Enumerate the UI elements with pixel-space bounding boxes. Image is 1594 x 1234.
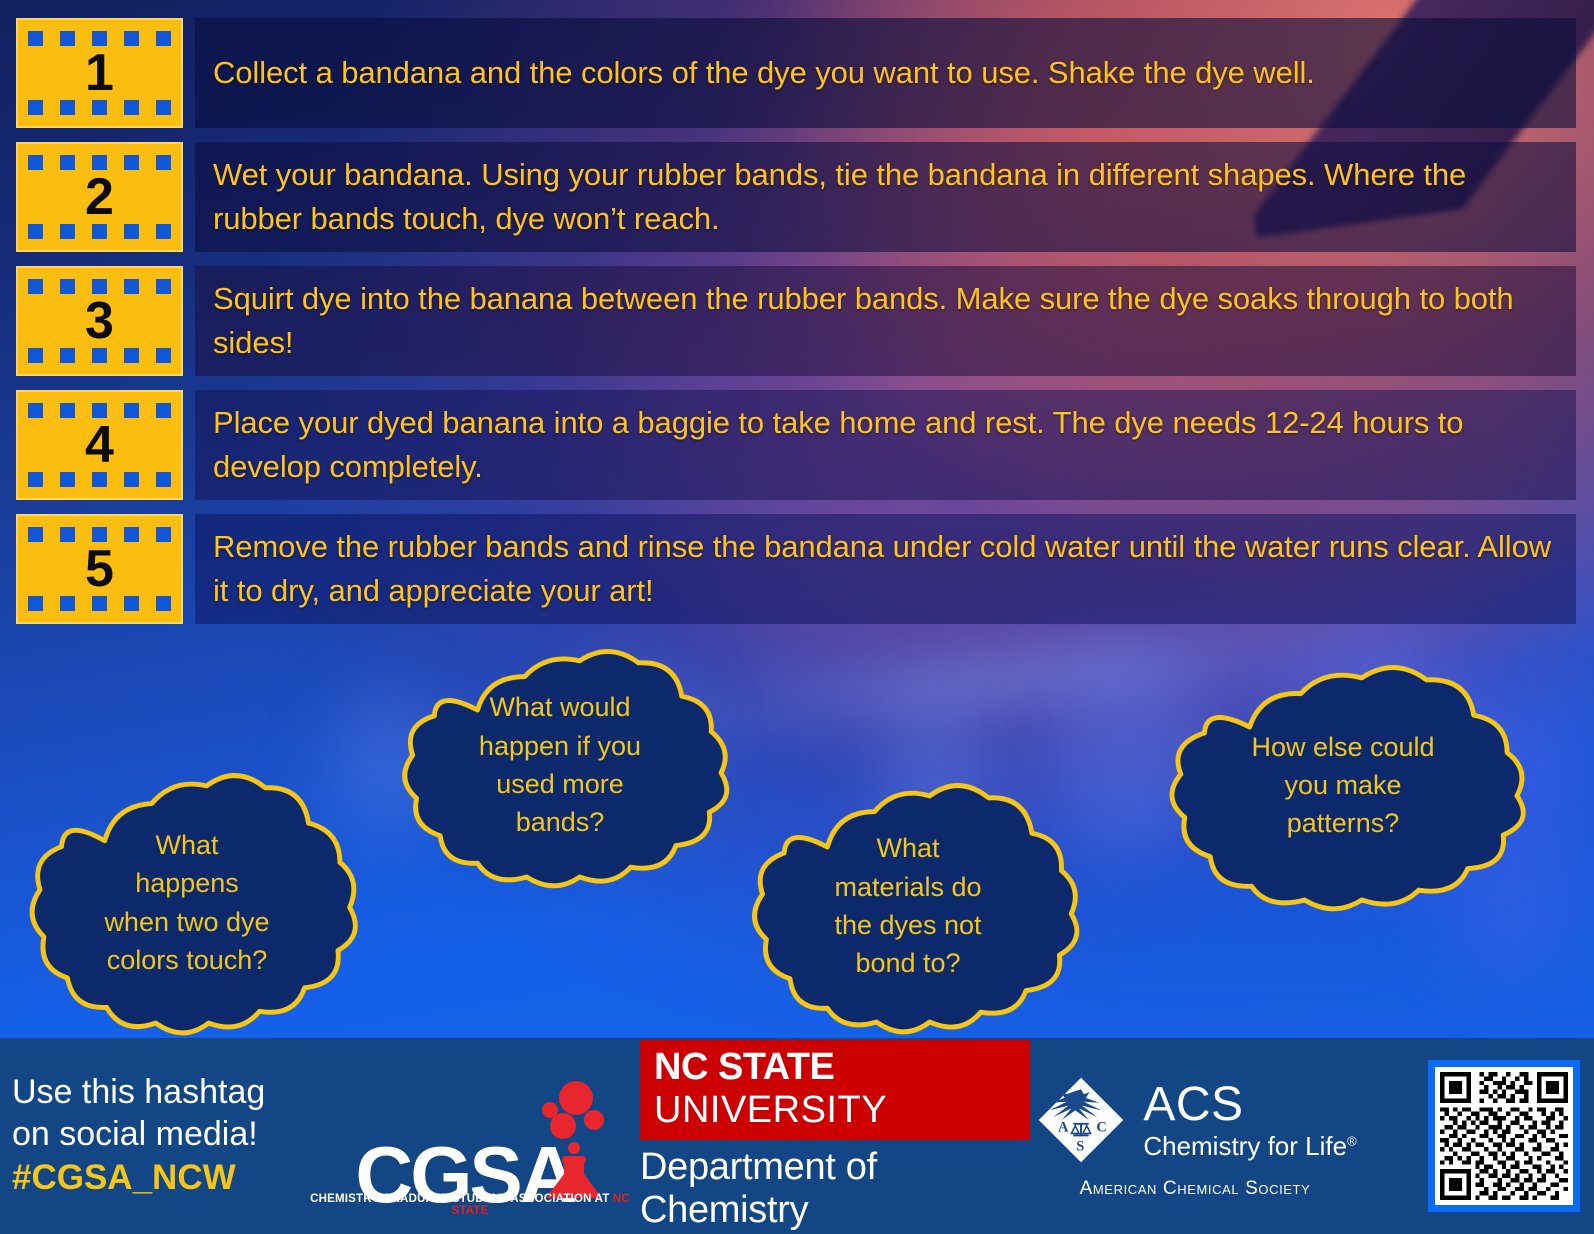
ncsu-red-bar: NC STATE UNIVERSITY	[640, 1040, 1030, 1140]
hashtag-value: #CGSA_NCW	[12, 1157, 300, 1200]
step-number-badge-3: 3	[16, 266, 183, 376]
step-number-label: 5	[85, 543, 114, 595]
step-number-label: 3	[85, 295, 114, 347]
question-cloud-4: How else could you make patterns?	[1146, 672, 1540, 898]
step-row: 2 Wet your bandana. Using your rubber ba…	[16, 142, 1576, 252]
svg-text:C: C	[1097, 1120, 1107, 1136]
step-number-label: 2	[85, 171, 114, 223]
film-perforations-top	[28, 403, 171, 418]
cgsa-tagline-main: CHEMISTRY GRADUATE STUDENT ASSOCIATION A…	[310, 1193, 613, 1205]
film-perforations-bottom	[28, 224, 171, 239]
question-cloud-1: What happens when two dye colors touch?	[8, 780, 366, 1025]
film-perforations-top	[28, 155, 171, 170]
qr-code[interactable]	[1428, 1060, 1580, 1212]
question-cloud-text: What materials do the dyes not bond to?	[732, 790, 1084, 1022]
question-cloud-text: How else could you make patterns?	[1146, 672, 1540, 898]
step-instruction-text: Squirt dye into the banana between the r…	[195, 266, 1576, 376]
hashtag-line-2: on social media!	[12, 1114, 300, 1155]
film-perforations-bottom	[28, 472, 171, 487]
question-cloud-2: What would happen if you used more bands…	[382, 655, 738, 875]
step-number-label: 1	[85, 47, 114, 99]
question-cloud-text: What happens when two dye colors touch?	[8, 780, 366, 1025]
step-row: 1 Collect a bandana and the colors of th…	[16, 18, 1576, 128]
step-instruction-text: Collect a bandana and the colors of the …	[195, 18, 1576, 128]
poster-root: 1 Collect a bandana and the colors of th…	[0, 0, 1594, 1234]
footer-bar: Use this hashtag on social media! #CGSA_…	[0, 1038, 1594, 1234]
ncsu-logo: NC STATE UNIVERSITY Department of Chemis…	[630, 1040, 1030, 1232]
cgsa-logo: CGSA CHEMISTRY GRADUATE STUDENT ASSOCIAT…	[300, 1061, 630, 1211]
question-cloud-text: What would happen if you used more bands…	[382, 655, 738, 875]
acs-tagline: Chemistry for Life®	[1143, 1133, 1356, 1159]
question-cloud-3: What materials do the dyes not bond to?	[732, 790, 1084, 1022]
ncsu-department-text: Department of Chemistry	[640, 1146, 1030, 1232]
film-perforations-bottom	[28, 348, 171, 363]
ncsu-bold-text: NC STATE	[654, 1046, 834, 1088]
film-perforations-top	[28, 279, 171, 294]
step-number-badge-4: 4	[16, 390, 183, 500]
steps-list: 1 Collect a bandana and the colors of th…	[16, 18, 1576, 638]
cgsa-tagline: CHEMISTRY GRADUATE STUDENT ASSOCIATION A…	[310, 1193, 630, 1217]
acs-wordmark: ACS Chemistry for Life®	[1143, 1081, 1356, 1159]
acs-name: ACS	[1143, 1081, 1356, 1129]
step-row: 5 Remove the rubber bands and rinse the …	[16, 514, 1576, 624]
step-row: 3 Squirt dye into the banana between the…	[16, 266, 1576, 376]
svg-text:A: A	[1058, 1120, 1069, 1136]
hashtag-line-1: Use this hashtag	[12, 1072, 300, 1113]
acs-diamond-eagle-icon: A C S	[1033, 1072, 1129, 1168]
ncsu-light-text: UNIVERSITY	[654, 1089, 887, 1131]
acs-tagline-text: Chemistry for Life	[1143, 1131, 1347, 1161]
film-perforations-top	[28, 31, 171, 46]
acs-registered-mark: ®	[1347, 1133, 1357, 1148]
film-perforations-top	[28, 527, 171, 542]
flask-icon	[532, 1076, 612, 1205]
step-number-badge-5: 5	[16, 514, 183, 624]
step-number-label: 4	[85, 419, 114, 471]
step-instruction-text: Place your dyed banana into a baggie to …	[195, 390, 1576, 500]
acs-full-name: American Chemical Society	[1080, 1178, 1311, 1200]
hashtag-block: Use this hashtag on social media! #CGSA_…	[0, 1072, 300, 1200]
acs-logo-top: A C S ACS Chemistry for Life®	[1033, 1072, 1356, 1168]
step-number-badge-2: 2	[16, 142, 183, 252]
step-instruction-text: Remove the rubber bands and rinse the ba…	[195, 514, 1576, 624]
step-number-badge-1: 1	[16, 18, 183, 128]
step-instruction-text: Wet your bandana. Using your rubber band…	[195, 142, 1576, 252]
step-row: 4 Place your dyed banana into a baggie t…	[16, 390, 1576, 500]
svg-text:S: S	[1077, 1139, 1085, 1155]
acs-logo: A C S ACS Chemistry for Life® American C…	[1030, 1072, 1360, 1200]
film-perforations-bottom	[28, 596, 171, 611]
film-perforations-bottom	[28, 100, 171, 115]
